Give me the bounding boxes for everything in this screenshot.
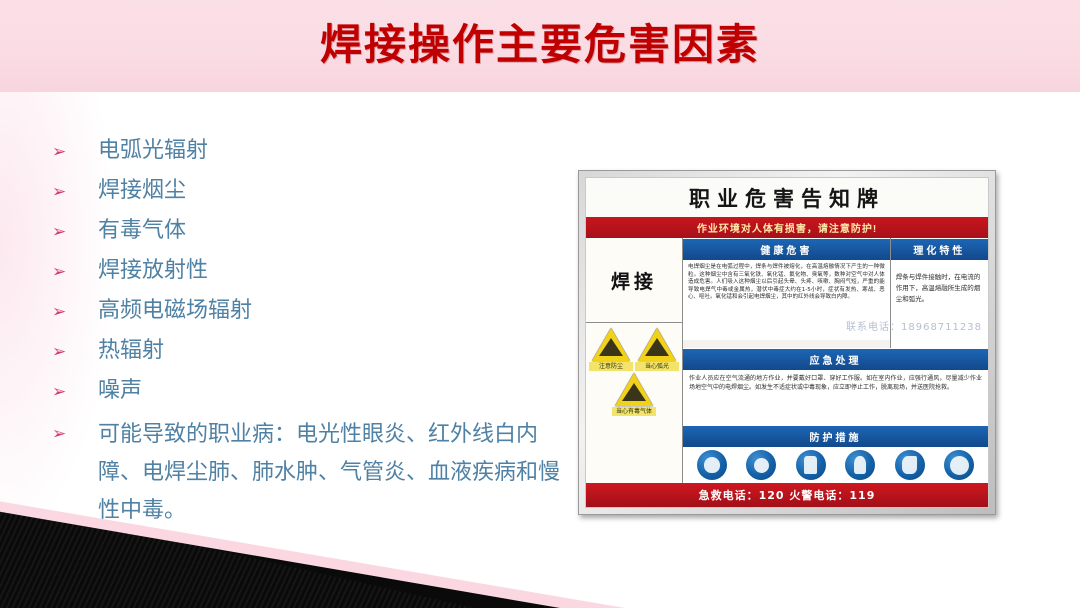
page-title: 焊接操作主要危害因素 bbox=[0, 16, 1080, 74]
list-item-label: 可能导致的职业病：电光性眼炎、红外线白内障、电焊尘肺、肺水肿、气管炎、血液疾病和… bbox=[98, 416, 572, 530]
warning-toxic-gas: 当心有毒气体 bbox=[612, 373, 656, 416]
ppe-icon-row bbox=[683, 447, 988, 483]
list-item-label: 电弧光辐射 bbox=[98, 134, 572, 167]
sign-left-column: 焊接 注意防尘 当心弧光 当心有毒气体 bbox=[586, 238, 683, 483]
sign-warning-subbar: 作业环境对人体有损害，请注意防护! bbox=[586, 217, 988, 238]
warning-label: 当心有毒气体 bbox=[612, 407, 656, 416]
bullet-arrow-icon: ➢ bbox=[52, 374, 98, 408]
protection-measures-header: 防护措施 bbox=[683, 425, 988, 447]
hazard-bullet-list: ➢ 电弧光辐射 ➢ 焊接烟尘 ➢ 有毒气体 ➢ 焊接放射性 ➢ 高频电磁场辐射 … bbox=[52, 134, 572, 536]
bullet-arrow-icon: ➢ bbox=[52, 416, 98, 450]
warning-sign-group: 注意防尘 当心弧光 当心有毒气体 bbox=[586, 323, 682, 483]
sign-title: 职业危害告知牌 bbox=[586, 178, 988, 217]
warning-dust-icon bbox=[592, 328, 630, 361]
slide-canvas: 焊接操作主要危害因素 ➢ 电弧光辐射 ➢ 焊接烟尘 ➢ 有毒气体 ➢ 焊接放射性… bbox=[0, 0, 1080, 608]
protective-coat-icon bbox=[796, 450, 826, 480]
warning-dust: 注意防尘 bbox=[589, 328, 633, 371]
hazard-notice-board-image: 职业危害告知牌 作业环境对人体有损害，请注意防护! 焊接 注意防尘 当心弧光 bbox=[578, 170, 996, 515]
list-item: ➢ 可能导致的职业病：电光性眼炎、红外线白内障、电焊尘肺、肺水肿、气管炎、血液疾… bbox=[52, 416, 572, 530]
list-item-label: 焊接烟尘 bbox=[98, 174, 572, 207]
emergency-phone-footer: 急救电话：120 火警电话：119 bbox=[586, 483, 988, 507]
list-item-label: 有毒气体 bbox=[98, 214, 572, 247]
sign-grid: 焊接 注意防尘 当心弧光 当心有毒气体 bbox=[586, 238, 988, 483]
mask-icon bbox=[697, 450, 727, 480]
list-item: ➢ 焊接放射性 bbox=[52, 254, 572, 288]
list-item: ➢ 焊接烟尘 bbox=[52, 174, 572, 208]
health-hazard-cell: 健康危害 电焊烟尘是在电弧过程中，焊条与焊件被熔化，在高温熔融情况下产生的一种微… bbox=[683, 238, 891, 348]
gloves-icon bbox=[845, 450, 875, 480]
sign-process-name: 焊接 bbox=[586, 238, 682, 323]
list-item: ➢ 噪声 bbox=[52, 374, 572, 408]
physical-properties-cell: 理化特性 焊条与焊件接触时，在电流的作用下，高温熔融所生成的烟尘和弧光。 bbox=[891, 238, 988, 348]
bullet-arrow-icon: ➢ bbox=[52, 254, 98, 288]
list-item-label: 焊接放射性 bbox=[98, 254, 572, 287]
bullet-arrow-icon: ➢ bbox=[52, 294, 98, 328]
ventilation-fan-icon bbox=[944, 450, 974, 480]
bullet-arrow-icon: ➢ bbox=[52, 174, 98, 208]
health-hazard-header: 健康危害 bbox=[683, 238, 890, 260]
emergency-handling-header: 应急处理 bbox=[683, 348, 988, 370]
bullet-arrow-icon: ➢ bbox=[52, 134, 98, 168]
warning-toxic-gas-icon bbox=[615, 373, 653, 406]
warning-arc-light: 当心弧光 bbox=[635, 328, 679, 371]
list-item-label: 热辐射 bbox=[98, 334, 572, 367]
warning-arc-light-icon bbox=[638, 328, 676, 361]
sign-right-column: 健康危害 电焊烟尘是在电弧过程中，焊条与焊件被熔化，在高温熔融情况下产生的一种微… bbox=[683, 238, 988, 483]
sign-inner-frame: 职业危害告知牌 作业环境对人体有损害，请注意防护! 焊接 注意防尘 当心弧光 bbox=[585, 177, 989, 508]
slide-header-band: 焊接操作主要危害因素 bbox=[0, 0, 1080, 92]
ear-protection-icon bbox=[746, 450, 776, 480]
emergency-handling-body: 作业人员应在空气流通的地方作业，并要戴好口罩、穿好工作服。如在室内作业，应强行通… bbox=[683, 370, 988, 425]
safety-boots-icon bbox=[895, 450, 925, 480]
list-item: ➢ 热辐射 bbox=[52, 334, 572, 368]
warning-label: 当心弧光 bbox=[635, 362, 679, 371]
list-item-label: 噪声 bbox=[98, 374, 572, 407]
warning-label: 注意防尘 bbox=[589, 362, 633, 371]
physical-properties-header: 理化特性 bbox=[891, 238, 988, 260]
list-item: ➢ 有毒气体 bbox=[52, 214, 572, 248]
bullet-arrow-icon: ➢ bbox=[52, 214, 98, 248]
list-item-label: 高频电磁场辐射 bbox=[98, 294, 572, 327]
list-item: ➢ 电弧光辐射 bbox=[52, 134, 572, 168]
sign-info-row: 健康危害 电焊烟尘是在电弧过程中，焊条与焊件被熔化，在高温熔融情况下产生的一种微… bbox=[683, 238, 988, 348]
physical-properties-body: 焊条与焊件接触时，在电流的作用下，高温熔融所生成的烟尘和弧光。 bbox=[891, 260, 988, 348]
bullet-arrow-icon: ➢ bbox=[52, 334, 98, 368]
list-item: ➢ 高频电磁场辐射 bbox=[52, 294, 572, 328]
health-hazard-body: 电焊烟尘是在电弧过程中，焊条与焊件被熔化，在高温熔融情况下产生的一种微粒。这种烟… bbox=[683, 260, 890, 340]
